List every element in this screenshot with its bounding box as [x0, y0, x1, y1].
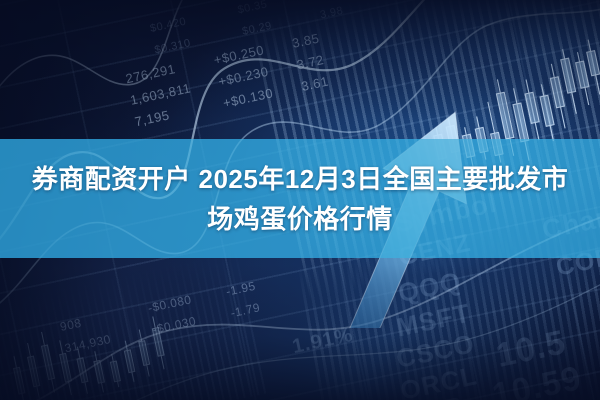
banner-image: $0.420 $0.35 4.12 $0.310 $0.29 3.98 276,…: [0, 0, 600, 400]
page-title: 券商配资开户 2025年12月3日全国主要批发市 场鸡蛋价格行情: [0, 139, 600, 258]
title-line-1: 券商配资开户 2025年12月3日全国主要批发市: [32, 159, 568, 199]
title-line-2: 场鸡蛋价格行情: [207, 199, 393, 239]
